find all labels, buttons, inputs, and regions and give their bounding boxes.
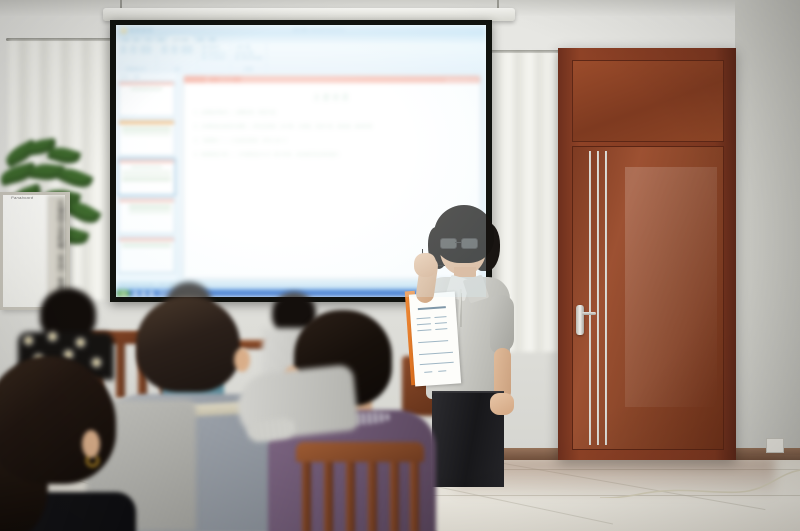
from-current-slide-icon[interactable]	[130, 45, 137, 54]
ribbon-group-monitors: 分辨率 显示位置 使用演示者视图	[231, 43, 267, 73]
slide-bullet-4: 4、智能制造工程——《中国制造2025》重点领域，高档数控机床和机器人	[194, 152, 470, 159]
custom-show-icon[interactable]	[140, 45, 152, 54]
ribbon-group-setup-checks: 播放旁白 使用排练计时 显示媒体控件	[198, 43, 231, 73]
tab-insert[interactable]: 插入	[134, 37, 141, 42]
door-trim-strip	[597, 151, 599, 445]
powerpoint-title-bar: 演示文稿 - Microsoft PowerPoint	[116, 25, 486, 35]
office-orb-icon[interactable]	[120, 27, 127, 34]
tab-start[interactable]: 开始	[122, 37, 129, 42]
tab-animation[interactable]: 动画	[157, 37, 164, 42]
checkbox-icon[interactable]	[202, 51, 206, 55]
tab-design[interactable]: 设计	[146, 37, 153, 42]
ribbon-group-setup: 设置	[157, 43, 198, 73]
door-lever[interactable]	[582, 312, 596, 315]
ribbon[interactable]: 开始放映幻灯片 设置 播	[116, 43, 486, 74]
from-beginning-icon[interactable]	[120, 45, 127, 54]
thumbnail-slide-4[interactable]	[118, 198, 175, 234]
wall-outlet	[766, 438, 784, 453]
hoop-earring	[86, 454, 99, 467]
slide-bullet-1: 1、主要经济特点——调整结构、转型升级	[194, 110, 470, 117]
ribbon-group-label-setup: 设置	[161, 67, 193, 71]
tab-slideshow[interactable]: 幻灯片放映	[169, 36, 192, 43]
door-trim-strip	[605, 151, 607, 445]
chair-foreground	[296, 442, 424, 531]
resolution-control[interactable]: 分辨率	[235, 45, 262, 49]
presenter-raised-hand	[414, 253, 436, 277]
power-cable	[600, 468, 800, 498]
checkbox-icon[interactable]	[235, 56, 239, 60]
quick-launch-media-icon[interactable]	[149, 291, 154, 296]
right-wall	[735, 0, 800, 470]
undo-icon[interactable]	[136, 28, 140, 32]
tab-review[interactable]: 审阅	[197, 37, 204, 42]
status-slide-counter: 幻灯片 第 3 张，共 14 张	[120, 283, 153, 287]
redo-icon[interactable]	[142, 28, 146, 32]
checkbox-icon[interactable]	[202, 45, 206, 49]
chevron-down-icon[interactable]	[246, 45, 250, 49]
presenter-hand-holding-papers	[490, 393, 514, 415]
record-narration-icon[interactable]	[181, 45, 193, 54]
checkbox-icon[interactable]	[202, 56, 206, 60]
check-play-narration[interactable]: 播放旁白	[202, 45, 226, 49]
pane-tab-outline[interactable]: 大纲	[133, 75, 139, 79]
hide-slide-icon[interactable]	[161, 45, 168, 54]
slide-bullet-2: 2、全球制造业格局的调整——移动互联网、云计算、大数据、生物工程、新能源、新材料…	[194, 124, 470, 131]
rehearse-timings-icon[interactable]	[171, 45, 178, 54]
check-use-timings[interactable]: 使用排练计时	[202, 51, 226, 55]
attendee-ponytail-woman	[0, 356, 136, 531]
ribbon-group-label-monitors: 监视器	[235, 67, 262, 71]
eyeglasses	[440, 238, 484, 247]
header-barcode-stripes	[206, 77, 241, 82]
slide-header-band: www.fleevchina.com	[184, 76, 480, 83]
chevron-down-icon[interactable]	[148, 28, 152, 32]
thumbnail-slide-5[interactable]	[118, 237, 175, 273]
slide-title: 主要背景	[184, 92, 480, 103]
wooden-door[interactable]	[572, 146, 724, 450]
chevron-down-icon[interactable]	[249, 51, 253, 55]
quick-launch-desktop-icon[interactable]	[141, 291, 146, 296]
show-on-control[interactable]: 显示位置	[235, 51, 262, 55]
ribbon-group-label-start-show: 开始放映幻灯片	[120, 67, 152, 71]
slide-header-url: www.fleevchina.com	[446, 78, 480, 82]
pane-tab-slides[interactable]: 幻灯片	[120, 75, 129, 79]
slide-bullet-3: 3、“互联网+”——工业级互联网、布局工业4.0	[194, 138, 470, 145]
header-block	[184, 76, 206, 83]
thumbnail-slide-1[interactable]	[118, 81, 175, 117]
ribbon-group-start-show: 开始放映幻灯片	[116, 43, 157, 73]
door-trim-strip	[589, 151, 591, 445]
save-icon[interactable]	[130, 28, 134, 32]
ribbon-tab-strip[interactable]: 开始 插入 设计 动画 幻灯片放映 审阅 视图	[116, 35, 486, 43]
thumbnail-slide-3[interactable]	[118, 159, 175, 195]
window-title: 演示文稿 - Microsoft PowerPoint	[155, 28, 482, 33]
thumbnail-slide-2[interactable]	[118, 120, 175, 156]
check-show-media-controls[interactable]: 显示媒体控件	[202, 56, 226, 60]
slide-thumbnail-pane[interactable]: 幻灯片 大纲	[116, 73, 178, 281]
quick-access-toolbar[interactable]	[130, 28, 152, 32]
door-handle[interactable]	[576, 305, 584, 335]
tab-view[interactable]: 视图	[209, 37, 216, 42]
conference-room-photo: Panaboard 久保田工业机械（苏州）有限公司 演示文稿 - Microso…	[0, 0, 800, 531]
presenter-view-check[interactable]: 使用演示者视图	[235, 56, 262, 60]
door-transom-panel	[572, 60, 724, 142]
quick-launch-ie-icon[interactable]	[133, 291, 138, 296]
